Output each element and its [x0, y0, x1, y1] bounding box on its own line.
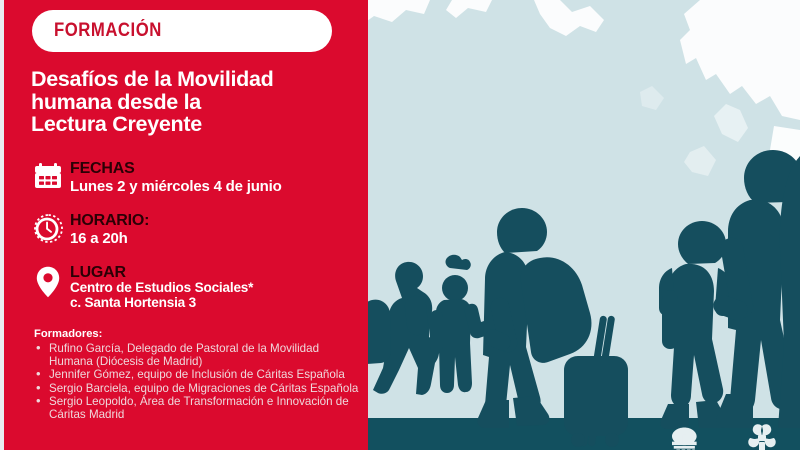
red-content-panel: FORMACIÓN Desafíos de la Movilidad human…	[4, 0, 368, 450]
location-pin-icon	[31, 264, 65, 298]
info-row-lugar: LUGAR Centro de Estudios Sociales* c. Sa…	[31, 264, 366, 310]
poster-root: FORMACIÓN Desafíos de la Movilidad human…	[0, 0, 800, 450]
trainer-item: Jennifer Gómez, equipo de Inclusión de C…	[34, 368, 364, 381]
info-detail-lugar-2: c. Santa Hortensia 3	[70, 296, 366, 311]
poster-title: Desafíos de la Movilidad humana desde la…	[31, 68, 361, 136]
info-heading-lugar: LUGAR	[70, 264, 366, 281]
left-edge-strip	[0, 0, 4, 450]
poster-title-line-1: Desafíos de la Movilidad	[31, 68, 361, 91]
formacion-badge: FORMACIÓN	[32, 10, 332, 52]
clock-icon	[31, 212, 65, 243]
trainers-title: Formadores:	[34, 328, 364, 341]
formacion-badge-label: FORMACIÓN	[54, 20, 162, 42]
poster-title-line-3: Lectura Creyente	[31, 113, 361, 136]
trainer-item: Sergio Barciela, equipo de Migraciones d…	[34, 382, 364, 395]
trainer-item: Sergio Leopoldo, Área de Transformación …	[34, 395, 364, 421]
trainer-item: Rufino García, Delegado de Pastoral de l…	[34, 342, 364, 368]
calendar-icon	[31, 160, 65, 190]
info-heading-horario: HORARIO:	[70, 212, 366, 229]
info-detail-horario: 16 a 20h	[70, 230, 366, 247]
info-text-horario: HORARIO: 16 a 20h	[65, 212, 366, 247]
trainers-block: Formadores: Rufino García, Delegado de P…	[34, 328, 364, 421]
trainers-list: Rufino García, Delegado de Pastoral de l…	[34, 342, 364, 421]
info-text-fechas: FECHAS Lunes 2 y miércoles 4 de junio	[65, 160, 366, 195]
info-row-horario: HORARIO: 16 a 20h	[31, 212, 366, 247]
info-detail-fechas: Lunes 2 y miércoles 4 de junio	[70, 178, 366, 195]
diocese-emblem-logo	[672, 428, 697, 450]
info-heading-fechas: FECHAS	[70, 160, 366, 177]
info-row-fechas: FECHAS Lunes 2 y miércoles 4 de junio	[31, 160, 366, 195]
info-detail-lugar: Centro de Estudios Sociales*	[70, 281, 366, 296]
poster-title-line-2: humana desde la	[31, 91, 361, 114]
info-text-lugar: LUGAR Centro de Estudios Sociales* c. Sa…	[65, 264, 366, 310]
suitcase-body	[564, 356, 628, 436]
